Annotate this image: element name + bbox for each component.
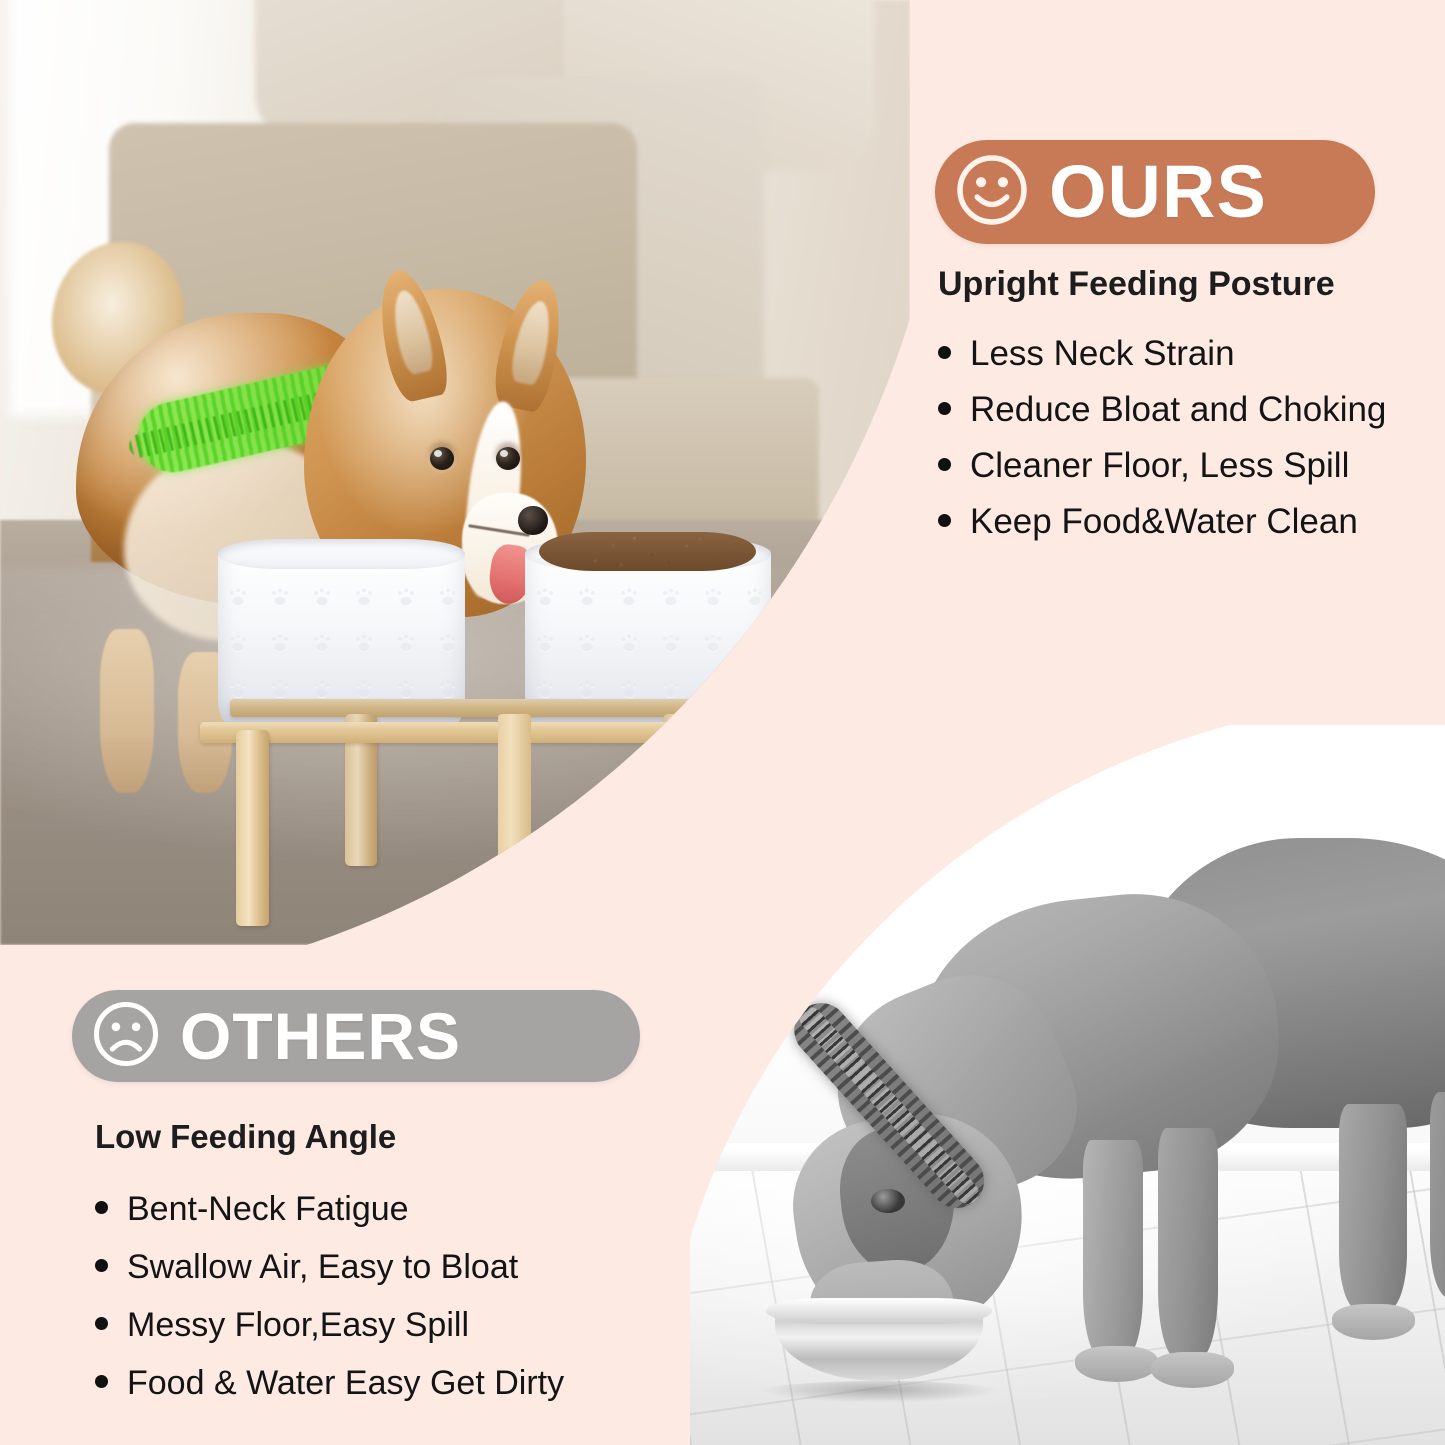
bamboo-leg-front-right [759,730,791,927]
ours-bullet-list: Less Neck Strain Reduce Bloat and Chokin… [938,334,1418,542]
dog-front-leg-right [1158,1128,1218,1358]
ours-badge-label: OURS [1049,155,1267,229]
living-room-scene [0,0,910,945]
bullet-text: Swallow Air, Easy to Bloat [127,1248,518,1287]
bullet-text: Cleaner Floor, Less Spill [970,446,1349,486]
bullet-text: Less Neck Strain [970,334,1235,374]
list-item: Keep Food&Water Clean [938,502,1418,542]
bullet-text: Food & Water Easy Get Dirty [127,1364,564,1403]
bamboo-leg-front-left [236,730,268,927]
list-item: Cleaner Floor, Less Spill [938,446,1418,486]
bamboo-center-post [498,714,532,911]
ours-subheading: Upright Feeding Posture [938,265,1418,304]
dog-hind-leg-right [1430,1092,1445,1298]
bullet-dot-icon [95,1375,108,1388]
bullet-dot-icon [95,1201,108,1214]
bullet-dot-icon [938,514,951,527]
others-bullet-list: Bent-Neck Fatigue Swallow Air, Easy to B… [95,1190,655,1403]
corgi-ear-right [488,275,571,415]
list-item: Food & Water Easy Get Dirty [95,1364,655,1403]
corgi-eye-right [496,447,520,470]
others-badge-label: OTHERS [180,1003,461,1069]
list-item: Bent-Neck Fatigue [95,1190,655,1229]
bullet-dot-icon [938,402,951,415]
infographic-canvas: OURS Upright Feeding Posture Less Neck S… [0,0,1445,1445]
dog-paw-hind [1332,1304,1415,1340]
sad-face-icon [90,998,162,1075]
others-badge: OTHERS [72,990,640,1082]
list-item: Less Neck Strain [938,334,1418,374]
bamboo-leg-back-right [663,714,695,865]
bullet-dot-icon [95,1259,108,1272]
dog-paw-front-right [1151,1352,1234,1388]
bullet-dot-icon [938,346,951,359]
corgi-nose [518,506,548,536]
dog-paw-front-left [1075,1346,1158,1382]
bullet-text: Messy Floor,Easy Spill [127,1306,469,1345]
bullet-text: Reduce Bloat and Choking [970,390,1386,430]
dog-eye [871,1189,905,1213]
dog-hind-leg-left [1339,1104,1407,1310]
corgi-with-elevated-bamboo-bowls-photo [0,0,910,945]
paw-print-emboss [535,587,762,697]
bullet-text: Bent-Neck Fatigue [127,1190,409,1229]
corgi-ear-left [369,265,454,406]
corgi-front-leg-left [100,629,154,793]
dog-front-leg-left [1083,1140,1143,1358]
bullet-dot-icon [938,458,951,471]
list-item: Swallow Air, Easy to Bloat [95,1248,655,1287]
smiley-face-icon [953,151,1031,234]
elevated-bowl-set [218,548,819,926]
list-item: Messy Floor,Easy Spill [95,1306,655,1345]
others-drawbacks-column: Low Feeding Angle Bent-Neck Fatigue Swal… [95,1118,655,1422]
list-item: Reduce Bloat and Choking [938,390,1418,430]
bullet-dot-icon [95,1317,108,1330]
paw-print-emboss [228,587,455,697]
ours-benefits-column: Upright Feeding Posture Less Neck Strain… [938,265,1418,558]
kibble-food [539,532,756,571]
dog-bending-to-floor-bowl-photo [690,725,1445,1445]
others-subheading: Low Feeding Angle [95,1118,655,1156]
bullet-text: Keep Food&Water Clean [970,502,1358,542]
ours-badge: OURS [935,140,1375,244]
stainless-steel-floor-bowl [766,1308,993,1394]
corgi-eye-left [430,447,454,470]
